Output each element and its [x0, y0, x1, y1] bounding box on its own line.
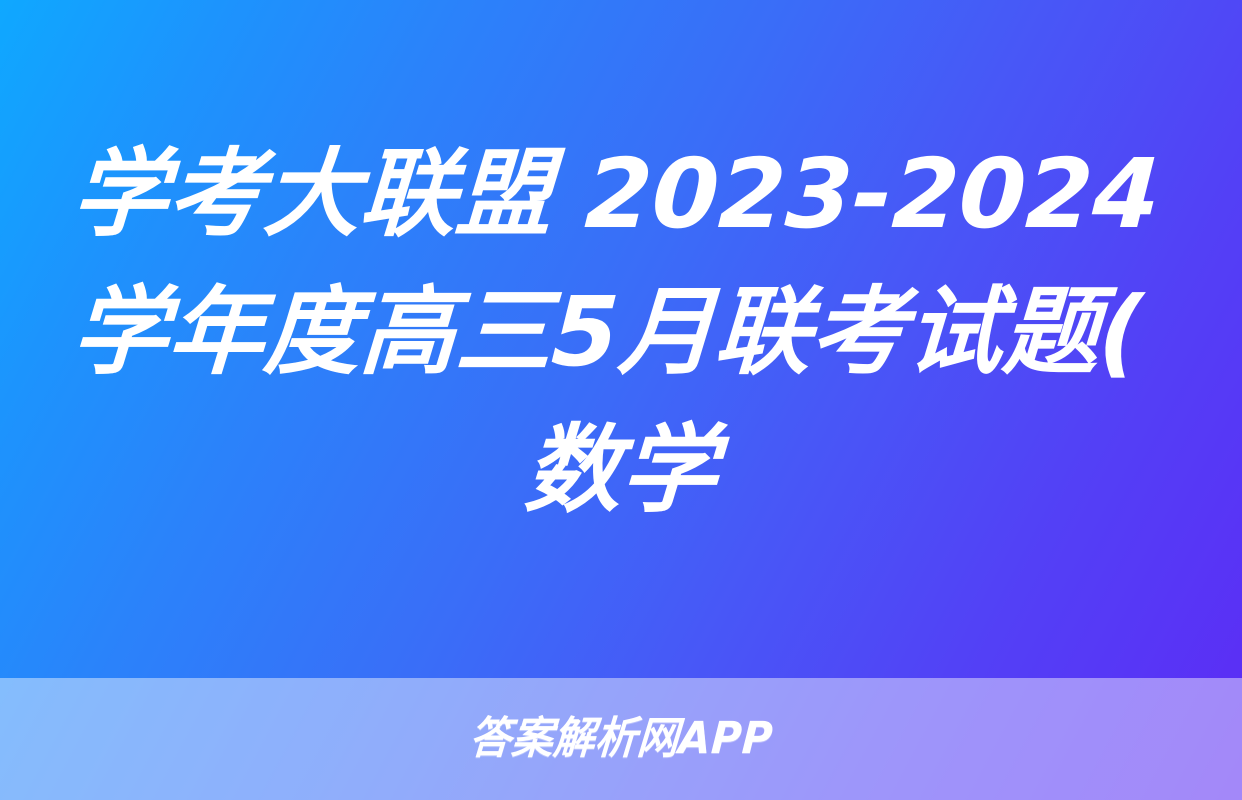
watermark-app-label: 答案解析网APP — [468, 714, 774, 764]
exam-poster: 学考大联盟 2023-2024 学年度高三5月联考试题( 数学 答案解析网APP — [0, 0, 1242, 800]
watermark-band: 答案解析网APP — [0, 678, 1242, 800]
poster-title-line-1: 学考大联盟 2023-2024 — [68, 125, 1173, 263]
poster-title-line-3: 数学 — [68, 401, 1173, 539]
poster-title-block: 学考大联盟 2023-2024 学年度高三5月联考试题( 数学 — [0, 0, 1242, 678]
poster-title-line-2: 学年度高三5月联考试题( — [68, 263, 1173, 401]
